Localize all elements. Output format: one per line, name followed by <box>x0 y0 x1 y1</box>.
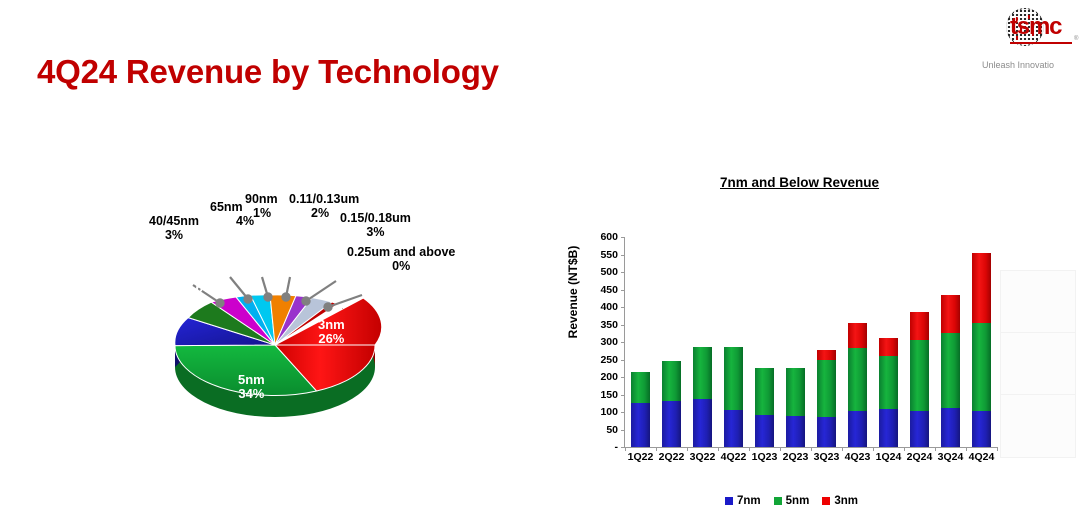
pie-slice-label: 16nm <box>147 274 181 289</box>
pie-slice-value: 7% <box>155 288 174 303</box>
x-axis-tick <box>780 447 781 451</box>
pie-callout-value: 3% <box>165 228 183 242</box>
y-axis-tick <box>621 237 625 238</box>
pie-slice-value: 14% <box>126 315 152 330</box>
y-axis-tick-label: 100 <box>600 406 618 418</box>
pie-callout-label: 40/45nm <box>149 214 199 228</box>
bar-2Q22[interactable] <box>662 237 681 447</box>
x-axis-tick <box>811 447 812 451</box>
pie-label-5nm: 5nm 34% <box>238 373 265 402</box>
bar-segment-5nm <box>848 348 867 411</box>
bar-4Q22[interactable] <box>724 237 743 447</box>
bar-1Q23[interactable] <box>755 237 774 447</box>
legend-swatch-icon <box>774 497 782 505</box>
bar-segment-5nm <box>755 368 774 415</box>
x-axis-label: 1Q22 <box>625 451 656 463</box>
x-axis-tick <box>625 447 626 451</box>
chart-legend: 7nm 5nm 3nm <box>725 495 858 507</box>
pie-callout-value: 1% <box>253 207 278 221</box>
bar-segment-5nm <box>910 340 929 411</box>
y-axis-tick <box>621 430 625 431</box>
bar-segment-3nm <box>879 338 898 356</box>
bar-3Q22[interactable] <box>693 237 712 447</box>
x-axis-label: 4Q22 <box>718 451 749 463</box>
bar-2Q24[interactable] <box>910 237 929 447</box>
bar-segment-5nm <box>941 333 960 408</box>
y-axis-tick-label: 500 <box>600 266 618 278</box>
bar-4Q24[interactable] <box>972 237 991 447</box>
y-axis-tick <box>621 342 625 343</box>
pie-callout-90nm: 90nm 1% <box>245 193 278 220</box>
bar-2Q23[interactable] <box>786 237 805 447</box>
pie-slice-value: 6% <box>196 280 215 295</box>
bar-segment-5nm <box>631 372 650 403</box>
x-axis-label: 1Q23 <box>749 451 780 463</box>
y-axis-tick-label: 50 <box>606 424 618 436</box>
bar-segment-7nm <box>724 410 743 447</box>
legend-item-5nm: 5nm <box>774 495 810 507</box>
y-axis-tick <box>621 412 625 413</box>
x-axis-tick <box>904 447 905 451</box>
legend-label: 7nm <box>737 495 761 507</box>
y-axis-tick-label: 450 <box>600 284 618 296</box>
x-axis-tick <box>687 447 688 451</box>
bar-4Q23[interactable] <box>848 237 867 447</box>
y-axis-tick <box>621 395 625 396</box>
brand-tagline: Unleash Innovatio <box>982 60 1080 70</box>
y-axis-tick-label: 550 <box>600 249 618 261</box>
y-axis-tick-label: 150 <box>600 389 618 401</box>
trademark-icon: ® <box>1074 36 1078 42</box>
bar-segment-3nm <box>941 295 960 333</box>
bar-segment-3nm <box>817 350 836 360</box>
bar-segment-3nm <box>910 312 929 340</box>
bar-segment-5nm <box>879 356 898 409</box>
revenue-by-technology-pie-chart: 40/45nm 3% 65nm 4% 90nm 1% 0.11/0.13um 2… <box>90 185 520 460</box>
bar-segment-3nm <box>972 253 991 323</box>
bar-segment-7nm <box>631 403 650 447</box>
bar-segment-5nm <box>724 347 743 410</box>
x-axis-label: 2Q24 <box>904 451 935 463</box>
bar-segment-7nm <box>786 416 805 448</box>
x-axis-tick <box>656 447 657 451</box>
bar-segment-7nm <box>817 417 836 447</box>
logo-underline <box>1010 42 1072 44</box>
y-axis-tick-label: 350 <box>600 319 618 331</box>
bar-segment-7nm <box>910 411 929 447</box>
bar-1Q22[interactable] <box>631 237 650 447</box>
pie-callout-label: 0.15/0.18um <box>340 211 411 225</box>
x-axis-tick <box>749 447 750 451</box>
pie-label-28nm: 28nm 6% <box>188 267 222 296</box>
x-axis-tick <box>935 447 936 451</box>
chart-title: 7nm and Below Revenue <box>720 175 879 190</box>
bar-segment-7nm <box>848 411 867 447</box>
x-axis-label: 4Q24 <box>966 451 997 463</box>
bar-3Q24[interactable] <box>941 237 960 447</box>
y-axis-tick <box>621 272 625 273</box>
plot-area: -501001502002503003504004505005506001Q22… <box>625 237 997 447</box>
x-axis-label: 4Q23 <box>842 451 873 463</box>
y-axis-tick <box>621 290 625 291</box>
pie-callout-025um-and-above: 0.25um and above 0% <box>347 246 455 273</box>
bar-segment-7nm <box>879 409 898 448</box>
pie-slice-value: 34% <box>238 386 264 401</box>
bar-segment-7nm <box>693 399 712 447</box>
x-axis-tick <box>718 447 719 451</box>
y-axis-tick <box>621 360 625 361</box>
pie-callout-label: 90nm <box>245 192 278 206</box>
bar-segment-7nm <box>662 401 681 447</box>
y-axis-tick-label: 250 <box>600 354 618 366</box>
legend-item-3nm: 3nm <box>822 495 858 507</box>
legend-item-7nm: 7nm <box>725 495 761 507</box>
pie-slice-label: 5nm <box>238 372 265 387</box>
y-axis-title: Revenue (NT$B) <box>566 212 580 372</box>
legend-label: 5nm <box>786 495 810 507</box>
x-axis-label: 3Q23 <box>811 451 842 463</box>
pie-callout-value: 3% <box>366 225 384 239</box>
pie-callout-label: 0.25um and above <box>347 245 455 259</box>
y-axis-tick <box>621 307 625 308</box>
y-axis-tick-label: 200 <box>600 371 618 383</box>
bar-segment-5nm <box>786 368 805 416</box>
pie-callout-015-018um: 0.15/0.18um 3% <box>340 212 411 239</box>
decorative-placeholder <box>1000 270 1076 334</box>
bar-3Q23[interactable] <box>817 237 836 447</box>
legend-swatch-icon <box>725 497 733 505</box>
7nm-and-below-revenue-chart: 7nm and Below Revenue Revenue (NT$B) -50… <box>540 165 1040 520</box>
y-axis-tick <box>621 325 625 326</box>
y-axis-tick-label: - <box>615 441 619 453</box>
legend-swatch-icon <box>822 497 830 505</box>
x-axis-label: 3Q24 <box>935 451 966 463</box>
x-axis-tick <box>873 447 874 451</box>
page-title: 4Q24 Revenue by Technology <box>37 53 499 91</box>
legend-label: 3nm <box>834 495 858 507</box>
tsmc-wordmark: tsmc <box>1010 13 1061 41</box>
x-axis-tick <box>997 447 998 451</box>
pie-label-7nm: 7nm 14% <box>126 302 153 331</box>
bar-segment-7nm <box>972 411 991 447</box>
x-axis-label: 2Q23 <box>780 451 811 463</box>
bar-segment-5nm <box>662 361 681 401</box>
y-axis-tick <box>621 377 625 378</box>
x-axis-label: 2Q22 <box>656 451 687 463</box>
bar-segment-5nm <box>817 360 836 417</box>
pie-callout-label: 65nm <box>210 200 243 214</box>
bar-segment-5nm <box>972 323 991 411</box>
bar-1Q24[interactable] <box>879 237 898 447</box>
y-axis-tick-label: 300 <box>600 336 618 348</box>
pie-callout-label: 0.11/0.13um <box>289 192 359 206</box>
y-axis-tick-label: 600 <box>600 231 618 243</box>
bar-segment-5nm <box>693 347 712 399</box>
bar-segment-3nm <box>848 323 867 348</box>
pie-slice-label: 3nm <box>318 317 345 332</box>
pie-label-16nm: 16nm 7% <box>147 275 181 304</box>
tsmc-logo: tsmc ® <box>984 6 1080 68</box>
pie-slice-label: 28nm <box>188 266 222 281</box>
x-axis-label: 3Q22 <box>687 451 718 463</box>
bar-segment-7nm <box>941 408 960 447</box>
x-axis-tick <box>966 447 967 451</box>
bar-segment-7nm <box>755 415 774 447</box>
x-axis-label: 1Q24 <box>873 451 904 463</box>
pie-callout-value: 0% <box>392 259 410 273</box>
decorative-placeholder <box>1000 332 1076 396</box>
decorative-placeholder <box>1000 394 1076 458</box>
x-axis-tick <box>842 447 843 451</box>
y-axis-tick-label: 400 <box>600 301 618 313</box>
y-axis-tick <box>621 255 625 256</box>
pie-label-3nm: 3nm 26% <box>318 318 345 347</box>
pie-callout-40-45nm: 40/45nm 3% <box>149 215 199 242</box>
pie-slice-value: 26% <box>318 331 344 346</box>
